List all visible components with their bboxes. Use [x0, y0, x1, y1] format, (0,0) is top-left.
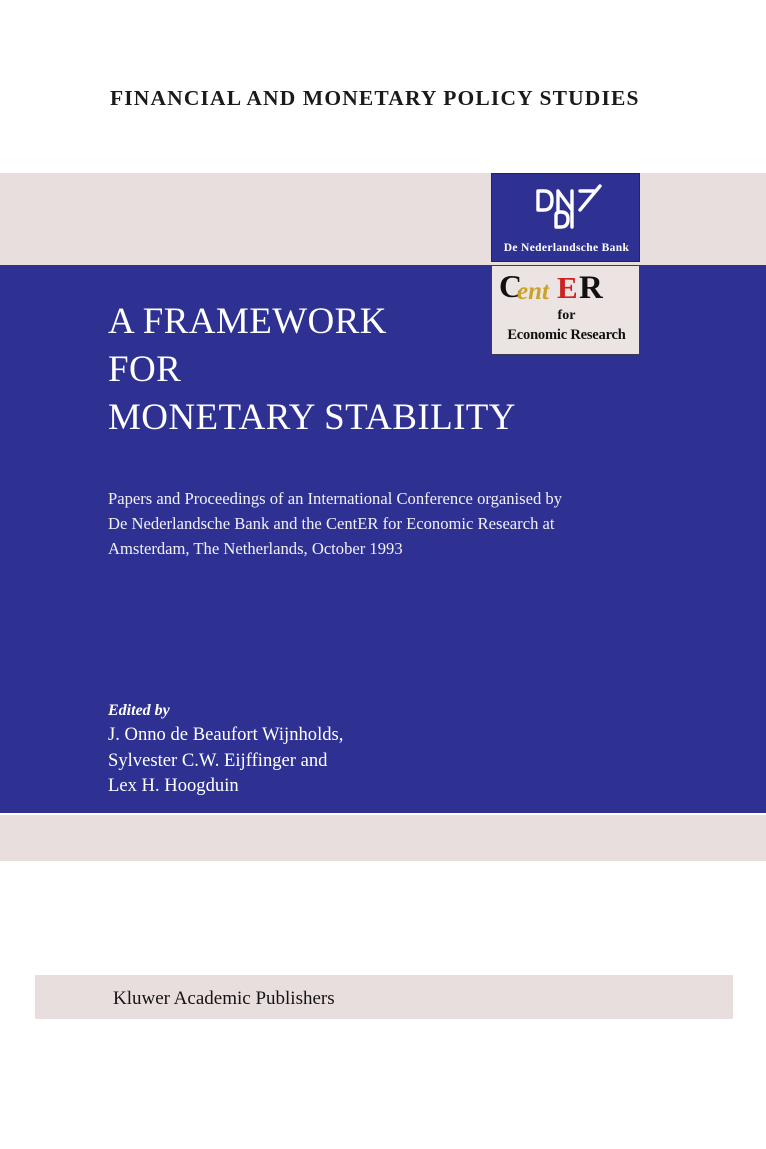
series-title: FINANCIAL AND MONETARY POLICY STUDIES	[110, 86, 640, 111]
title-line-3: MONETARY STABILITY	[108, 394, 538, 442]
edited-by-label: Edited by	[108, 700, 548, 722]
book-cover: FINANCIAL AND MONETARY POLICY STUDIES	[0, 0, 766, 1149]
dnb-logo-name: De Nederlandsche Bank	[492, 242, 640, 254]
editors-block: Edited by J. Onno de Beaufort Wijnholds,…	[108, 700, 548, 799]
title-line-1: A FRAMEWORK	[108, 298, 538, 346]
top-pink-band	[0, 173, 766, 265]
book-subtitle: Papers and Proceedings of an Internation…	[108, 486, 668, 561]
lower-pink-band	[0, 815, 766, 861]
dnb-monogram-icon	[492, 176, 640, 232]
subtitle-line-1: Papers and Proceedings of an Internation…	[108, 486, 668, 511]
de-nederlandsche-bank-logo: De Nederlandsche Bank	[491, 173, 640, 262]
editor-name-2: Sylvester C.W. Eijffinger and	[108, 748, 548, 774]
title-line-2: FOR	[108, 346, 538, 394]
editor-name-3: Lex H. Hoogduin	[108, 773, 548, 799]
svg-text:E: E	[557, 270, 578, 304]
editor-name-1: J. Onno de Beaufort Wijnholds,	[108, 722, 548, 748]
svg-text:R: R	[579, 270, 604, 304]
book-title: A FRAMEWORK FOR MONETARY STABILITY	[108, 298, 538, 442]
publisher-name: Kluwer Academic Publishers	[113, 988, 335, 1010]
subtitle-line-3: Amsterdam, The Netherlands, October 1993	[108, 536, 668, 561]
subtitle-line-2: De Nederlandsche Bank and the CentER for…	[108, 511, 668, 536]
